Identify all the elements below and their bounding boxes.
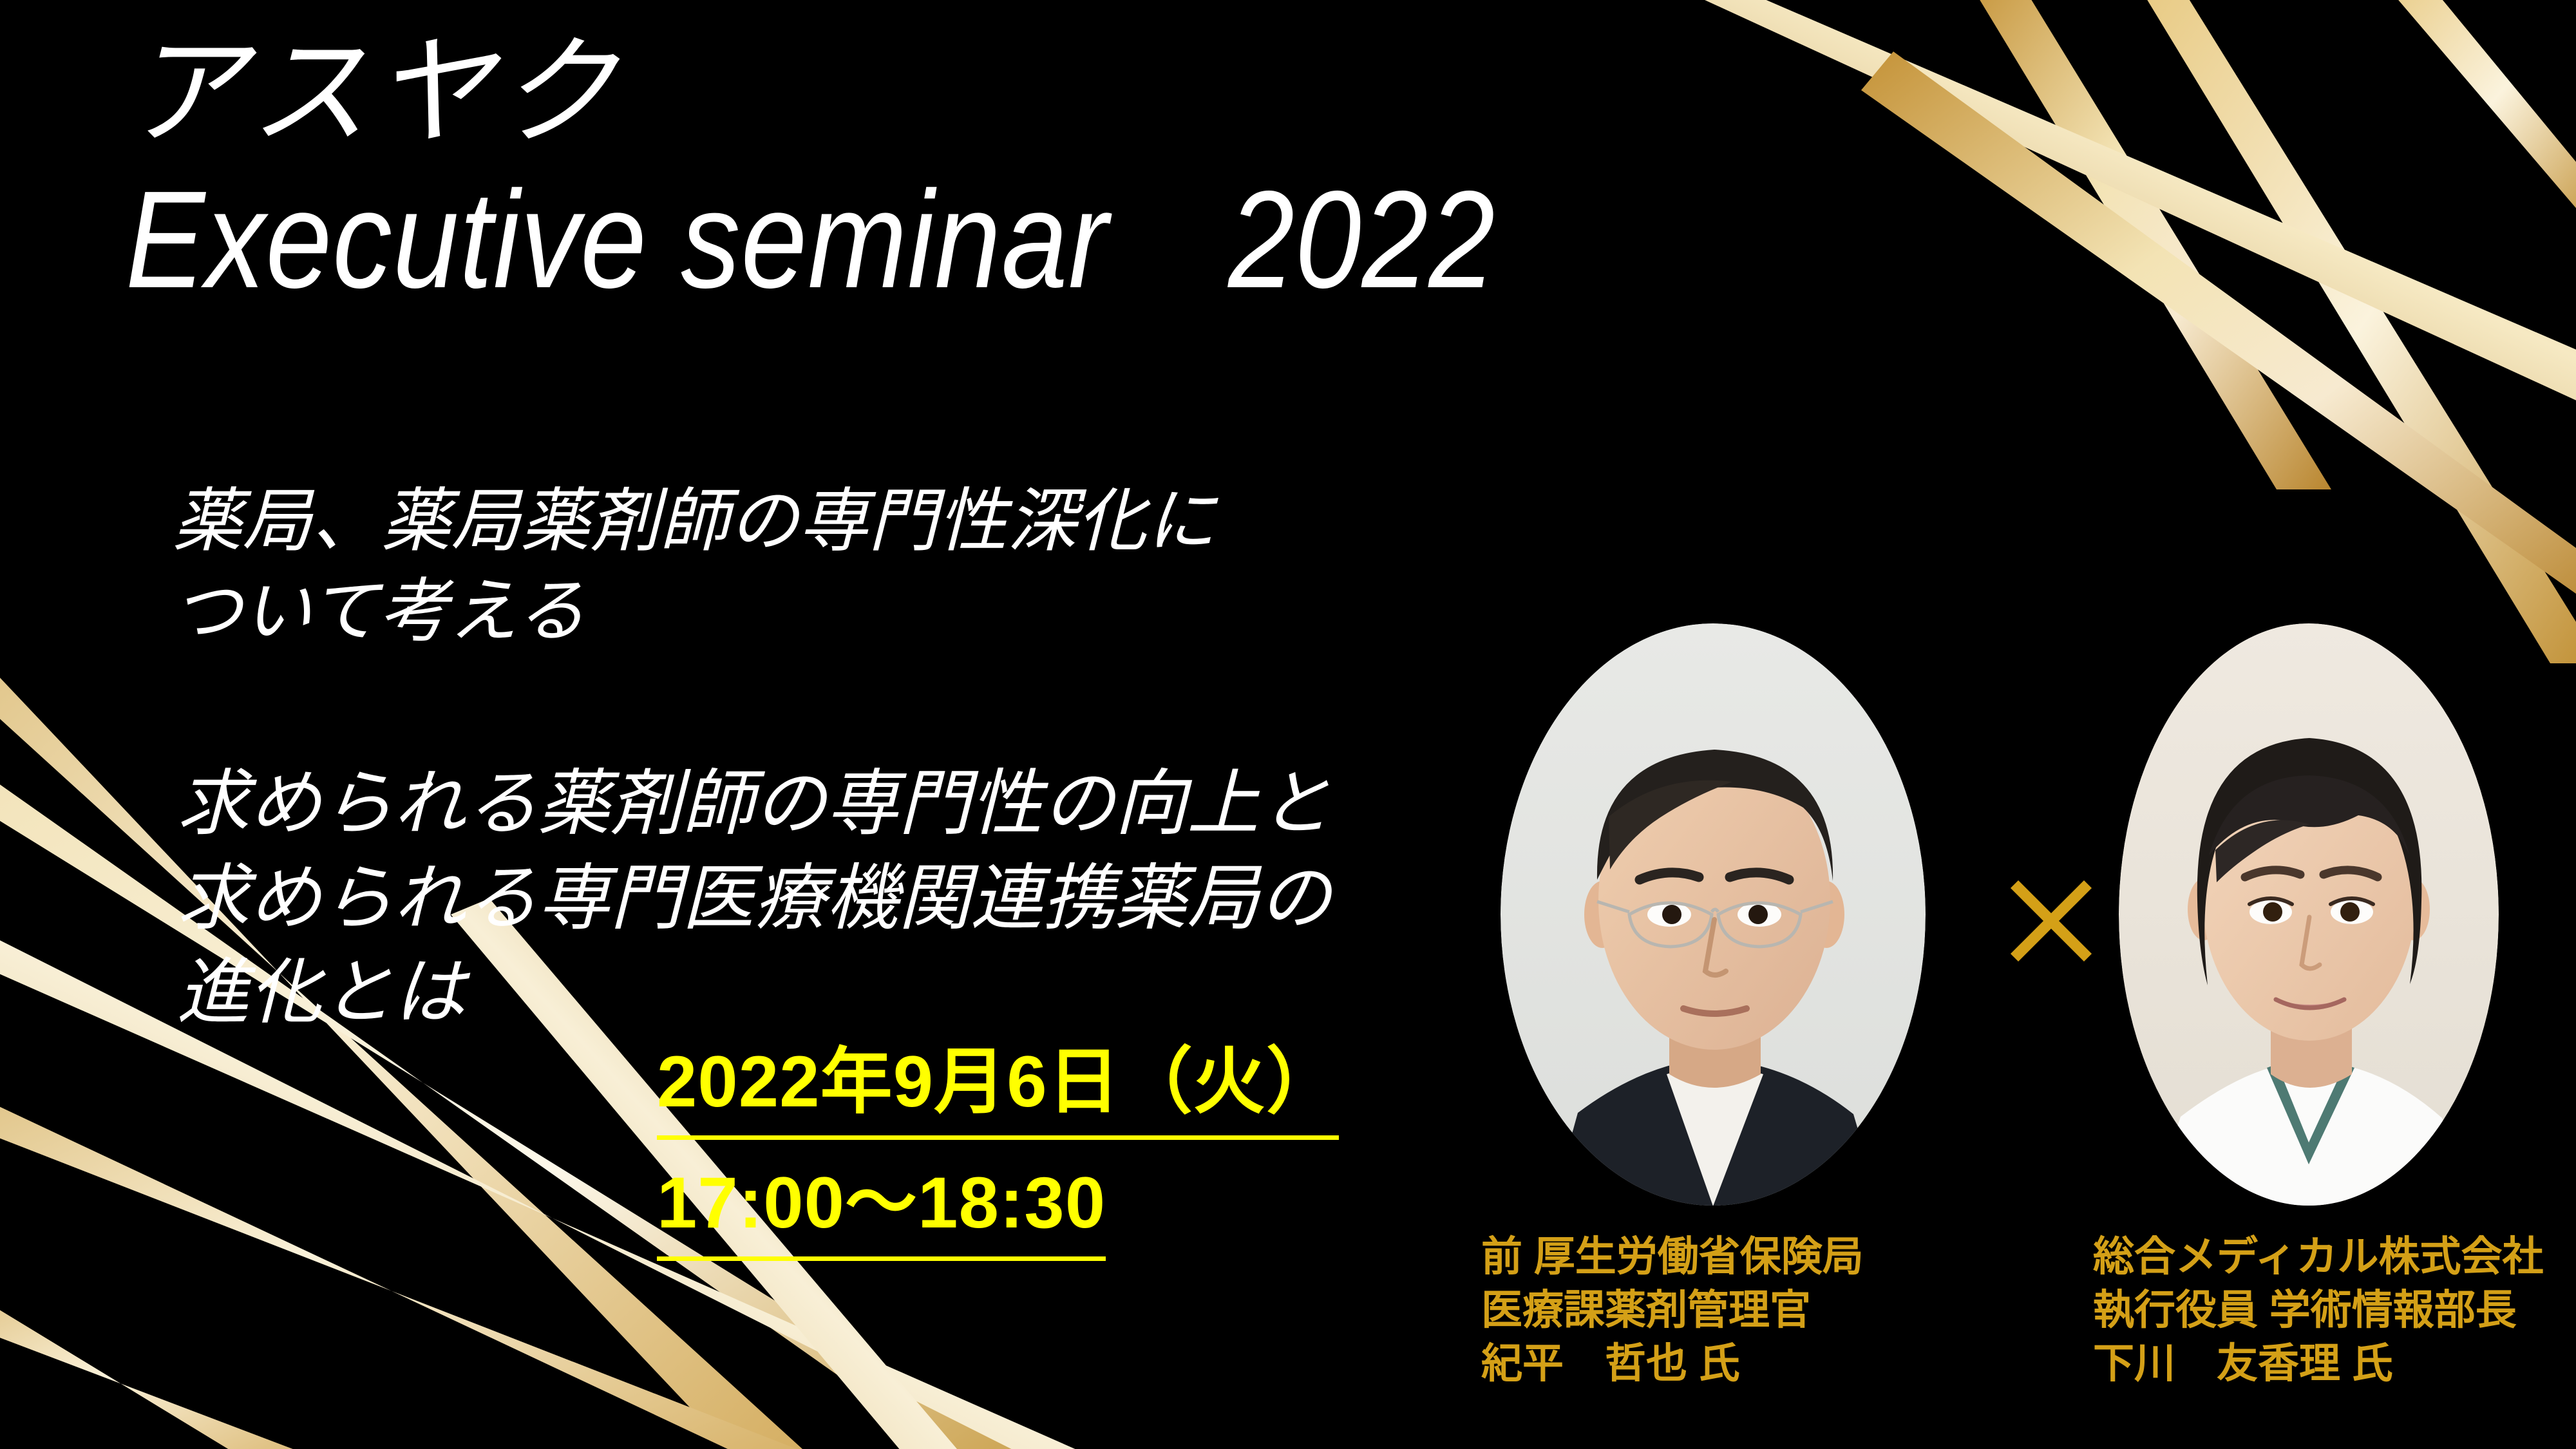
theme-line-2: ついて考える <box>173 567 1499 657</box>
speaker-right-name: 下川 友香理 氏 <box>2093 1337 2544 1390</box>
speaker-left-affiliation-2: 医療課薬剤管理官 <box>1481 1283 1864 1337</box>
speaker-caption-right: 総合メディカル株式会社 執行役員 学術情報部長 下川 友香理 氏 <box>2093 1230 2544 1391</box>
brand-name-en: Executive seminar 2022 <box>126 167 1898 312</box>
speaker-right-affiliation-2: 執行役員 学術情報部長 <box>2093 1283 2544 1337</box>
speaker-photo-left-wrap <box>1501 623 1926 1206</box>
datetime-block: 2022年9月6日（火） 17:00～18:30 <box>657 1030 1339 1273</box>
brand-name-jp: アスヤク <box>126 26 2186 159</box>
lead-line-3: 進化とは <box>177 945 1529 1040</box>
title-block: アスヤク Executive seminar 2022 <box>126 26 2186 312</box>
lead-line-2: 求められる専門医療機関連携薬局の <box>177 851 1529 946</box>
event-time: 17:00～18:30 <box>657 1151 1106 1261</box>
speaker-right-affiliation-1: 総合メディカル株式会社 <box>2093 1230 2544 1283</box>
lead-line-1: 求められる薬剤師の専門性の向上と <box>177 757 1529 851</box>
speaker-caption-left: 前 厚生労働省保険局 医療課薬剤管理官 紀平 哲也 氏 <box>1481 1230 1864 1391</box>
speaker-left-name: 紀平 哲也 氏 <box>1481 1337 1864 1390</box>
speaker-photo-right-wrap <box>2119 623 2499 1206</box>
speakers-section: 前 厚生労働省保険局 医療課薬剤管理官 紀平 哲也 氏 総合メディカル株式会社 … <box>1481 612 2537 1417</box>
cross-separator-icon <box>2009 879 2093 963</box>
seminar-banner: アスヤク Executive seminar 2022 薬局、薬局薬剤師の専門性… <box>0 0 2576 1449</box>
speaker-left-affiliation-1: 前 厚生労働省保険局 <box>1481 1230 1864 1283</box>
theme-line-1: 薬局、薬局薬剤師の専門性深化に <box>173 477 1499 567</box>
speaker-photo-left <box>1501 623 1926 1206</box>
event-date: 2022年9月6日（火） <box>657 1030 1339 1140</box>
lead-block: 求められる薬剤師の専門性の向上と 求められる専門医療機関連携薬局の 進化とは <box>177 757 1529 1040</box>
theme-block: 薬局、薬局薬剤師の専門性深化に ついて考える <box>173 477 1499 658</box>
speaker-photo-right <box>2119 623 2499 1206</box>
